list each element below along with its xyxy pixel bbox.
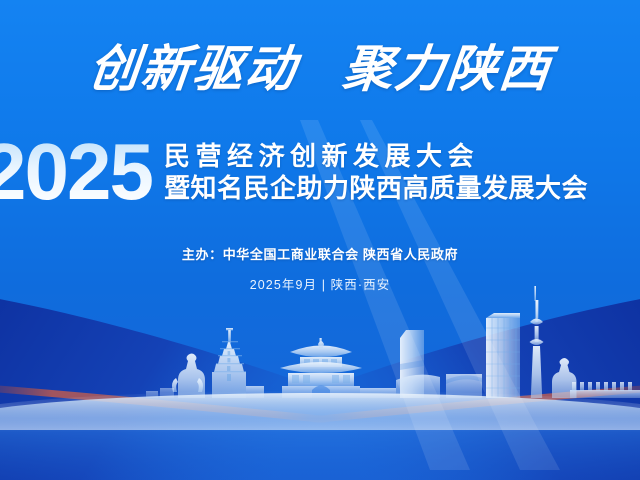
calligraphy-phrase-2: 聚力陕西 — [340, 44, 553, 94]
year-2025: 2025 — [0, 135, 158, 209]
ground-haze — [0, 391, 640, 431]
conference-poster: 创新驱动 聚力陕西 2025 民营经济创新发展大会 暨知名民企助力陕西高质量发展… — [0, 0, 640, 480]
main-titles: 民营经济创新发展大会 暨知名民企助力陕西高质量发展大会 — [158, 142, 640, 202]
city-wall-battlements — [570, 382, 640, 398]
headline-block: 2025 民营经济创新发展大会 暨知名民企助力陕西高质量发展大会 — [0, 123, 640, 221]
host-organizers: 主办：中华全国工商业联合会 陕西省人民政府 — [0, 244, 640, 263]
calligraphy-phrase-1: 创新驱动 — [86, 44, 299, 94]
title-line-1: 民营经济创新发展大会 — [164, 142, 640, 171]
date-location: 2025年9月 | 陕西·西安 — [0, 274, 640, 293]
calligraphy-headline: 创新驱动 聚力陕西 — [0, 44, 640, 94]
title-line-2: 暨知名民企助力陕西高质量发展大会 — [164, 174, 640, 203]
